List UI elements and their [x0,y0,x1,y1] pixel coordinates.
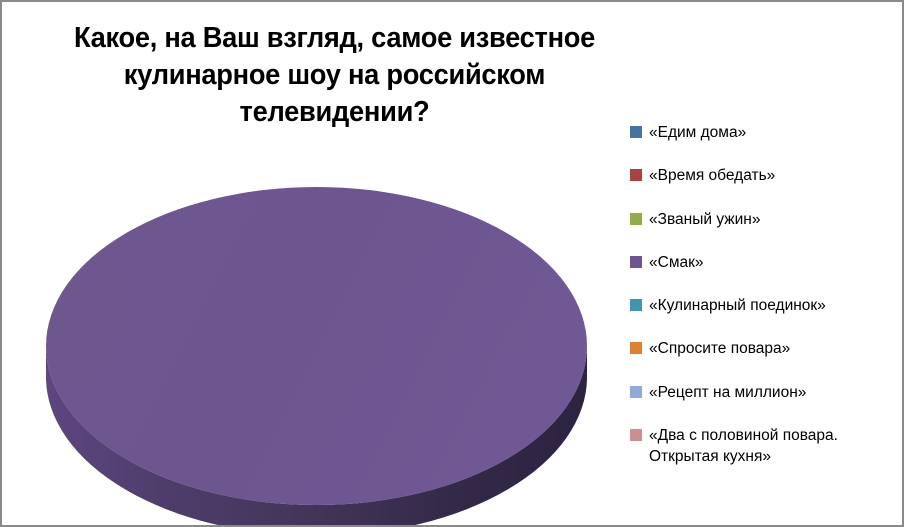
legend-item-label: «Званый ужин» [649,209,760,230]
legend-swatch-icon [630,169,642,181]
legend-swatch-icon [630,429,642,441]
legend-item-label: «Два с половиной повара. Открытая кухня» [649,425,838,467]
legend-swatch-icon [630,213,642,225]
legend-item[interactable]: «Спросите повара» [630,338,902,359]
legend-item[interactable]: «Смак» [630,252,902,273]
legend-swatch-icon [630,256,642,268]
legend-item[interactable]: «Рецепт на миллион» [630,382,902,403]
legend-item[interactable]: «Кулинарный поединок» [630,295,902,316]
legend-item-label: «Смак» [649,252,704,273]
legend-swatch-icon [630,126,642,138]
legend-item-label: «Время обедать» [649,165,775,186]
legend-item[interactable]: «Время обедать» [630,165,902,186]
pie-chart-graphic [2,2,627,527]
legend-swatch-icon [630,386,642,398]
legend-swatch-icon [630,299,642,311]
legend-swatch-icon [630,342,642,354]
chart-legend: «Едим дома» «Время обедать» «Званый ужин… [630,122,902,489]
legend-item[interactable]: «Два с половиной повара. Открытая кухня» [630,425,902,467]
legend-item-label: «Кулинарный поединок» [649,295,826,316]
chart-container: Какое, на Ваш взгляд, самое известное ку… [0,0,904,527]
legend-item[interactable]: «Едим дома» [630,122,902,143]
legend-item-label: «Едим дома» [649,122,746,143]
legend-item-label: «Рецепт на миллион» [649,382,806,403]
legend-item[interactable]: «Званый ужин» [630,209,902,230]
pie-chart-plot-area [2,2,627,527]
pie-slice-top-smak [46,187,587,505]
legend-item-label: «Спросите повара» [649,338,790,359]
